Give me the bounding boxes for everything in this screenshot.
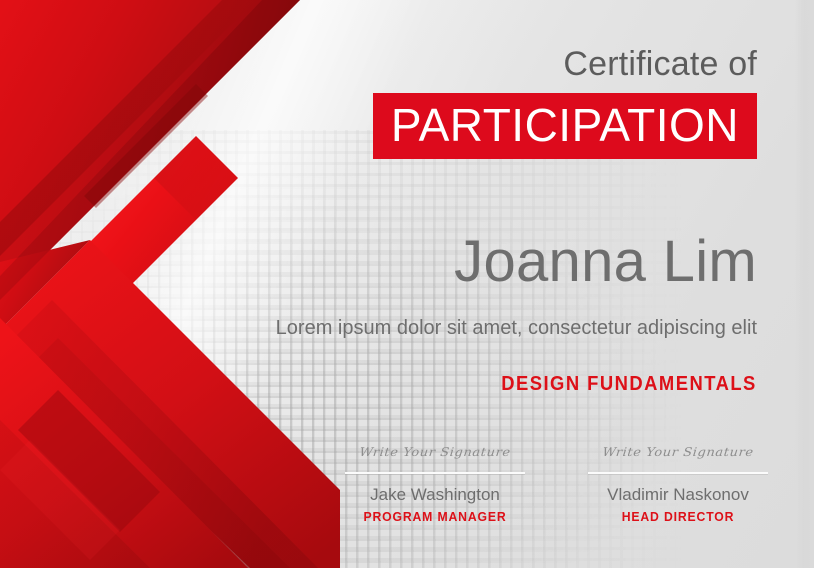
signature-row: Write Your Signature Jake Washington PRO… xyxy=(345,443,768,526)
signature-rule xyxy=(588,472,768,474)
certificate-page: Certificate of PARTICIPATION Joanna Lim … xyxy=(0,0,814,568)
course-title: DESIGN FUNDAMENTALS xyxy=(501,371,757,397)
recipient-name: Joanna Lim xyxy=(454,228,757,296)
signature-block-left: Write Your Signature Jake Washington PRO… xyxy=(345,443,525,526)
signer-name: Vladimir Naskonov xyxy=(588,484,768,506)
signature-script-placeholder: Write Your Signature xyxy=(587,444,769,462)
certificate-eyebrow: Certificate of xyxy=(373,44,757,84)
signer-name: Jake Washington xyxy=(345,484,525,506)
signature-rule xyxy=(345,472,525,474)
certificate-type-banner: PARTICIPATION xyxy=(373,93,757,159)
signer-role: HEAD DIRECTOR xyxy=(593,508,762,526)
certificate-title-block: Certificate of PARTICIPATION xyxy=(373,44,757,159)
signature-script-placeholder: Write Your Signature xyxy=(344,444,526,462)
certificate-description: Lorem ipsum dolor sit amet, consectetur … xyxy=(276,314,757,342)
signature-block-right: Write Your Signature Vladimir Naskonov H… xyxy=(588,443,768,526)
signer-role: PROGRAM MANAGER xyxy=(350,508,519,526)
